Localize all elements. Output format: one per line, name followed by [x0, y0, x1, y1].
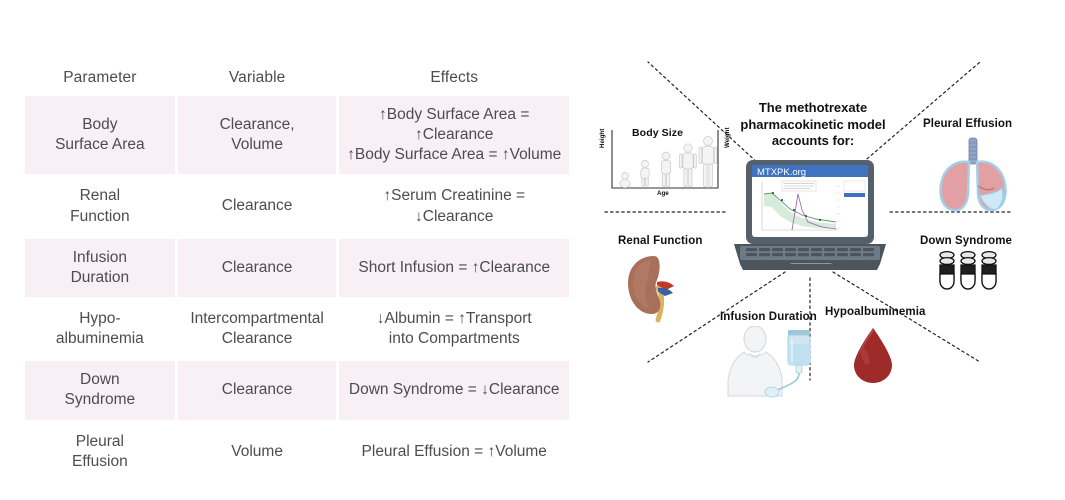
table-cell-variable: Intercompartmental Clearance	[178, 300, 337, 358]
table-cell-effects: ↑Serum Creatinine = ↓Clearance	[339, 177, 569, 235]
table-row: Renal FunctionClearance↑Serum Creatinine…	[25, 177, 569, 235]
table-cell-parameter: Pleural Effusion	[25, 423, 175, 481]
blood-drop-icon	[848, 326, 898, 391]
table-row: Pleural EffusionVolumePleural Effusion =…	[25, 423, 569, 481]
table-row: Infusion DurationClearanceShort Infusion…	[25, 239, 569, 297]
kidney-icon	[620, 252, 686, 329]
node-label-pleural-effusion: Pleural Effusion	[923, 118, 1012, 130]
column-header-effects: Effects	[339, 67, 569, 93]
table-row: Down SyndromeClearanceDown Syndrome = ↓C…	[25, 361, 569, 419]
table-cell-parameter: Body Surface Area	[25, 96, 175, 174]
table-cell-effects: Pleural Effusion = ↑Volume	[339, 423, 569, 481]
body-size-y-right-label: Weight	[724, 127, 731, 148]
parameter-effects-table-panel: Parameter Variable Effects Body Surface …	[22, 64, 572, 484]
table-row: Hypo- albuminemiaIntercompartmental Clea…	[25, 300, 569, 358]
table-cell-parameter: Renal Function	[25, 177, 175, 235]
table-cell-effects: Down Syndrome = ↓Clearance	[339, 361, 569, 419]
table-cell-variable: Clearance	[178, 361, 337, 419]
chromosomes-icon	[935, 250, 1005, 299]
table-cell-effects: ↑Body Surface Area = ↑Clearance ↑Body Su…	[339, 96, 569, 174]
table-cell-variable: Clearance	[178, 177, 337, 235]
table-body: Body Surface AreaClearance, Volume↑Body …	[25, 96, 569, 481]
body-size-chart: Height Weight Age	[600, 126, 726, 202]
node-label-renal-function: Renal Function	[618, 235, 702, 247]
column-header-parameter: Parameter	[25, 67, 175, 93]
parameter-effects-table: Parameter Variable Effects Body Surface …	[22, 64, 572, 484]
center-title: The methotrexate pharmacokinetic model a…	[698, 100, 928, 150]
table-cell-variable: Volume	[178, 423, 337, 481]
table-cell-parameter: Down Syndrome	[25, 361, 175, 419]
table-row: Body Surface AreaClearance, Volume↑Body …	[25, 96, 569, 174]
node-label-infusion-duration: Infusion Duration	[720, 311, 817, 323]
table-cell-effects: ↓Albumin = ↑Transport into Compartments	[339, 300, 569, 358]
table-cell-variable: Clearance, Volume	[178, 96, 337, 174]
table-cell-variable: Clearance	[178, 239, 337, 297]
body-size-y-left-label: Height	[599, 129, 606, 148]
body-size-x-label: Age	[657, 190, 669, 197]
table-cell-parameter: Infusion Duration	[25, 239, 175, 297]
mtxpk-model-diagram: The methotrexate pharmacokinetic model a…	[580, 0, 1065, 500]
laptop-mtxpk[interactable]: MTXPK.org	[732, 160, 888, 277]
table-cell-parameter: Hypo- albuminemia	[25, 300, 175, 358]
table-header-row: Parameter Variable Effects	[25, 67, 569, 93]
node-label-down-syndrome: Down Syndrome	[920, 235, 1012, 247]
column-header-variable: Variable	[178, 67, 337, 93]
laptop-site-label: MTXPK.org	[757, 167, 806, 178]
lungs-icon	[928, 136, 1018, 221]
node-label-hypoalbuminemia: Hypoalbuminemia	[825, 306, 926, 318]
table-header: Parameter Variable Effects	[25, 67, 569, 93]
table-cell-effects: Short Infusion = ↑Clearance	[339, 239, 569, 297]
iv-infusion-icon	[720, 326, 820, 403]
